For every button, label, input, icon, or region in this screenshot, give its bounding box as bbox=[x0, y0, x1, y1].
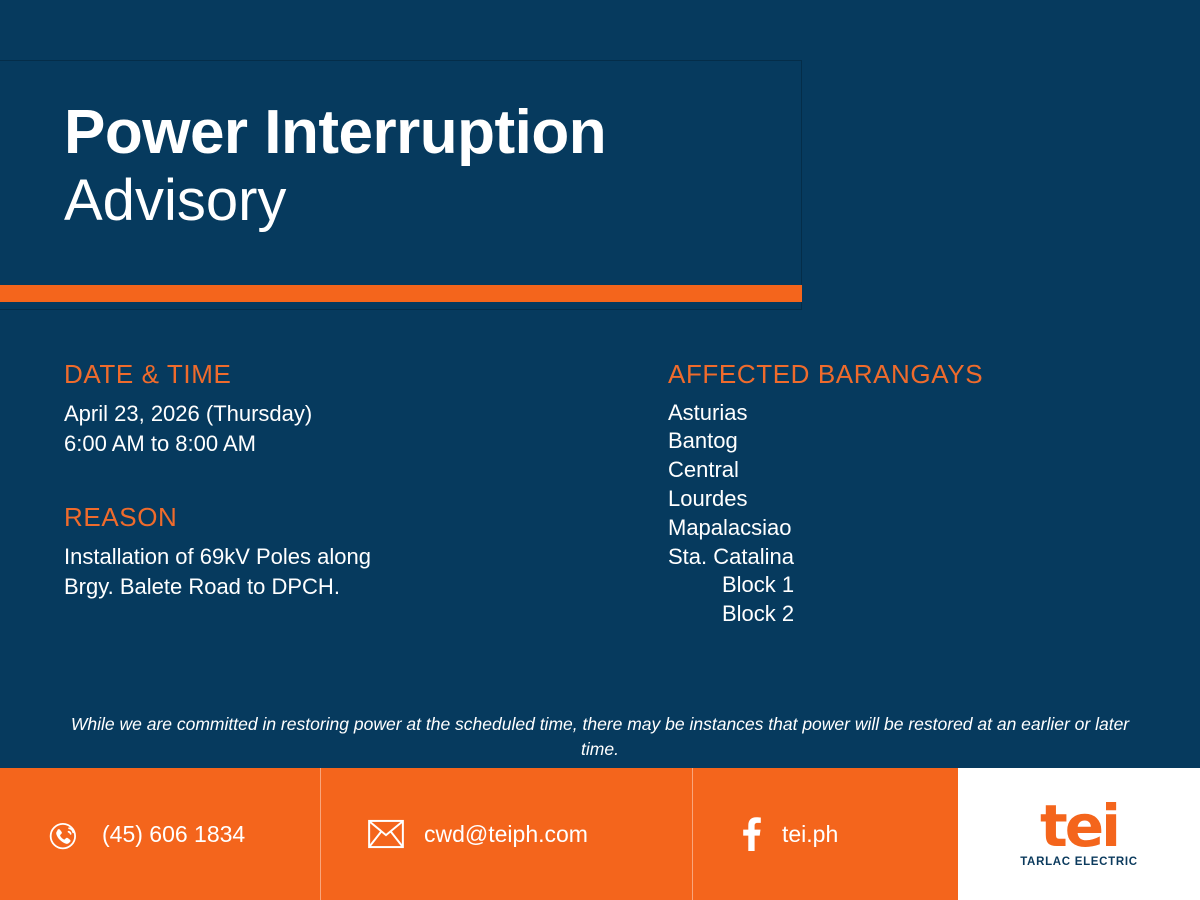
reason-heading: REASON bbox=[64, 503, 624, 532]
list-item-sub: Block 1 bbox=[668, 571, 1168, 600]
phone-number: (45) 606 1834 bbox=[102, 821, 245, 848]
right-column: AFFECTED BARANGAYS Asturias Bantog Centr… bbox=[668, 360, 1168, 629]
contact-phone[interactable]: (45) 606 1834 bbox=[0, 768, 320, 900]
affected-barangays-list: Asturias Bantog Central Lourdes Mapalacs… bbox=[668, 399, 1168, 630]
envelope-icon bbox=[368, 819, 404, 849]
left-column: DATE & TIME April 23, 2026 (Thursday) 6:… bbox=[64, 360, 624, 603]
header-title-group: Power Interruption Advisory bbox=[64, 101, 784, 235]
page-title-sub: Advisory bbox=[64, 168, 784, 235]
contact-email[interactable]: cwd@teiph.com bbox=[320, 768, 692, 900]
list-item: Central bbox=[668, 456, 1168, 485]
company-logo: tei TARLAC ELECTRIC bbox=[958, 768, 1200, 900]
phone-ringing-icon bbox=[48, 817, 82, 851]
page-title-main: Power Interruption bbox=[64, 101, 784, 164]
list-item-sub: Block 2 bbox=[668, 600, 1168, 629]
orange-accent-bar bbox=[0, 285, 802, 302]
list-item: Bantog bbox=[668, 427, 1168, 456]
reason-value: Installation of 69kV Poles along Brgy. B… bbox=[64, 542, 624, 603]
list-item: Mapalacsiao bbox=[668, 514, 1168, 543]
contact-facebook[interactable]: tei.ph bbox=[692, 768, 958, 900]
advisory-content: DATE & TIME April 23, 2026 (Thursday) 6:… bbox=[0, 360, 1200, 690]
header-panel: Power Interruption Advisory bbox=[0, 60, 802, 310]
facebook-f-icon bbox=[740, 817, 762, 851]
list-item: Lourdes bbox=[668, 485, 1168, 514]
email-address: cwd@teiph.com bbox=[424, 821, 588, 848]
disclaimer-text: While we are committed in restoring powe… bbox=[60, 712, 1140, 762]
date-time-heading: DATE & TIME bbox=[64, 360, 624, 389]
list-item: Asturias bbox=[668, 399, 1168, 428]
footer-bar: (45) 606 1834 cwd@teiph.com tei.ph tei T… bbox=[0, 768, 1200, 900]
section-spacer bbox=[64, 459, 624, 503]
facebook-handle: tei.ph bbox=[782, 821, 838, 848]
list-item: Sta. Catalina bbox=[668, 543, 1168, 572]
logo-wordmark: tei bbox=[1040, 800, 1118, 853]
date-time-value: April 23, 2026 (Thursday) 6:00 AM to 8:0… bbox=[64, 399, 624, 460]
barangays-heading: AFFECTED BARANGAYS bbox=[668, 360, 1168, 389]
logo-subtitle: TARLAC ELECTRIC bbox=[1020, 856, 1138, 868]
